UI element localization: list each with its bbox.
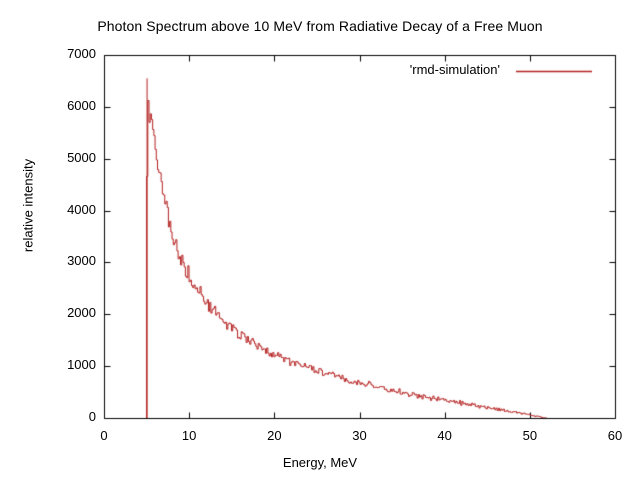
y-tick-label: 3000 [8,253,96,268]
x-tick-label: 40 [415,428,475,443]
y-tick-label: 6000 [8,98,96,113]
legend-entry-label: 'rmd-simulation' [260,62,500,77]
x-tick-label: 10 [159,428,219,443]
x-tick-label: 60 [585,428,640,443]
y-tick-label: 1000 [8,357,96,372]
x-axis-label: Energy, MeV [0,455,640,470]
x-tick-label: 50 [500,428,560,443]
x-tick-label: 20 [244,428,304,443]
y-tick-label: 5000 [8,150,96,165]
y-tick-label: 4000 [8,202,96,217]
y-tick-label: 2000 [8,305,96,320]
chart-plot-area: Photon Spectrum above 10 MeV from Radiat… [0,0,640,480]
y-tick-label: 0 [8,409,96,424]
y-tick-label: 7000 [8,46,96,61]
x-tick-label: 30 [330,428,390,443]
x-tick-label: 0 [74,428,134,443]
